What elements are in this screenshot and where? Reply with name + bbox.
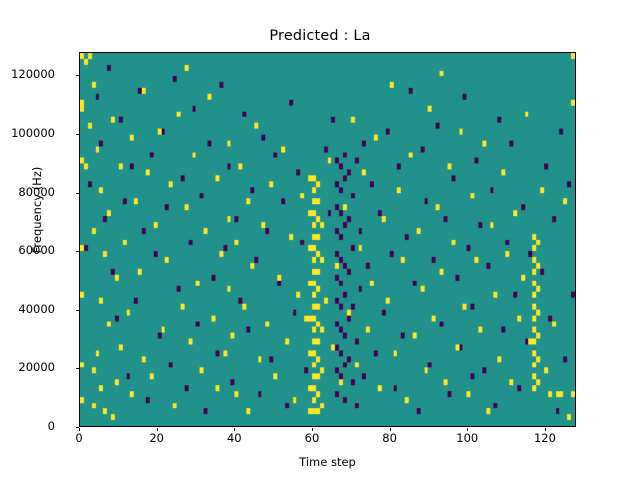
x-axis-tick-label: 20 <box>127 431 187 445</box>
x-axis-tick-mark <box>157 428 158 432</box>
x-axis-tick-label: 60 <box>282 431 342 445</box>
x-axis-tick-mark <box>545 428 546 432</box>
heatmap-canvas <box>80 53 575 426</box>
x-axis-tick-mark <box>390 428 391 432</box>
x-axis-tick-label: 40 <box>204 431 264 445</box>
chart-title: Predicted : La <box>0 28 640 44</box>
x-axis-tick-mark <box>79 428 80 432</box>
x-axis-tick-label: 100 <box>437 431 497 445</box>
x-axis-tick-label: 120 <box>515 431 575 445</box>
y-axis-label: Frequency (Hz) <box>30 50 44 370</box>
heatmap-plot-area <box>79 52 576 427</box>
x-axis-tick-label: 80 <box>360 431 420 445</box>
x-axis-tick-mark <box>467 428 468 432</box>
y-axis-tick-label: 60000 <box>0 243 55 257</box>
y-axis-tick-label: 0 <box>0 419 55 433</box>
y-axis-tick-label: 80000 <box>0 185 55 199</box>
x-axis-tick-label: 0 <box>49 431 109 445</box>
matplotlib-figure: Predicted : La Frequency (Hz) 0200004000… <box>0 0 640 480</box>
y-axis-tick-label: 20000 <box>0 360 55 374</box>
y-axis-tick-label: 100000 <box>0 126 55 140</box>
y-axis-tick-label: 40000 <box>0 302 55 316</box>
y-axis-tick-label: 120000 <box>0 67 55 81</box>
x-axis-tick-mark <box>312 428 313 432</box>
x-axis-label: Time step <box>79 455 576 469</box>
x-axis-tick-mark <box>234 428 235 432</box>
